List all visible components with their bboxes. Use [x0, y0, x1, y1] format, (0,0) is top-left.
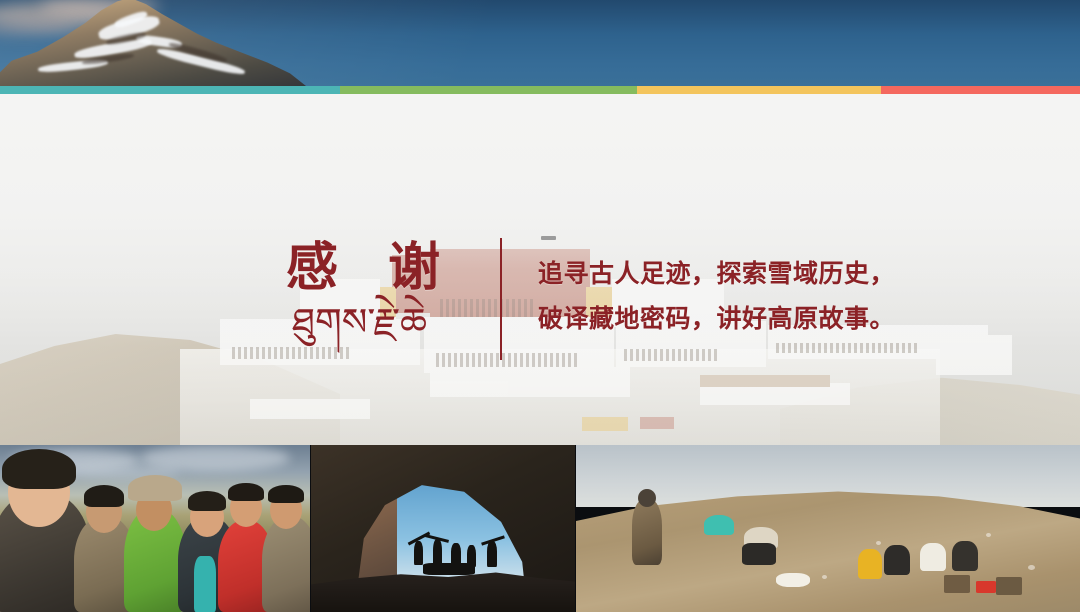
- crouching-worker: [742, 543, 776, 565]
- jacket-accent: [194, 556, 216, 612]
- person-hair: [228, 483, 264, 501]
- slogan-line-2: 破译藏地密码，讲好高原故事。: [538, 297, 958, 342]
- jumping-person: [487, 541, 497, 567]
- equipment-bucket: [996, 577, 1022, 595]
- bottom-photo-strip: 西藏自治区文物保护研究所: [0, 445, 1080, 612]
- color-accent-strip: [0, 86, 1080, 94]
- jumping-person: [451, 543, 461, 565]
- excavation-site-photo: [576, 445, 1080, 612]
- crouching-worker: [952, 541, 978, 571]
- thanks-chinese: 感 谢: [286, 242, 456, 294]
- thanks-tibetan: ཐུགས་རྗེ་ཆེ: [292, 300, 427, 346]
- strip-segment-teal: [0, 86, 340, 94]
- pebble: [876, 541, 881, 545]
- crouching-worker: [920, 543, 946, 571]
- mountain-photo-band: [0, 0, 1080, 86]
- slogan-line-1: 追寻古人足迹，探索雪域历史，: [538, 252, 958, 297]
- strip-segment-red: [881, 86, 1080, 94]
- vertical-divider: [500, 238, 502, 360]
- person-figure: [262, 516, 310, 612]
- dash-mark: [541, 236, 556, 240]
- person-hair: [268, 485, 304, 503]
- strip-segment-green: [340, 86, 637, 94]
- pebble: [822, 575, 827, 579]
- walking-worker: [632, 499, 662, 565]
- pebble: [1028, 565, 1035, 570]
- person-hair: [84, 485, 124, 507]
- red-tool: [976, 581, 996, 593]
- crouching-worker: [884, 545, 910, 575]
- cave-arch-photo: [311, 445, 575, 612]
- slogan-block: 追寻古人足迹，探索雪域历史， 破译藏地密码，讲好高原故事。: [538, 252, 958, 341]
- rock-platform: [423, 563, 475, 575]
- worker-head: [638, 489, 656, 507]
- person-hair: [188, 491, 226, 511]
- jumping-person: [414, 541, 423, 565]
- white-tarp: [776, 573, 810, 587]
- team-selfie-photo: [0, 445, 310, 612]
- crouching-worker: [858, 549, 882, 579]
- strip-segment-gold: [637, 86, 881, 94]
- pebble: [986, 533, 991, 537]
- presentation-slide: 感 谢 ཐུགས་རྗེ་ཆེ 追寻古人足迹，探索雪域历史， 破译藏地密码，讲好…: [0, 0, 1080, 612]
- equipment-bucket: [944, 575, 970, 593]
- thanks-text-zone: 感 谢 ཐུགས་རྗེ་ཆེ 追寻古人足迹，探索雪域历史， 破译藏地密码，讲好…: [0, 94, 1080, 445]
- person-hat: [128, 475, 182, 501]
- crouching-worker: [704, 515, 734, 535]
- person-hair: [2, 449, 76, 489]
